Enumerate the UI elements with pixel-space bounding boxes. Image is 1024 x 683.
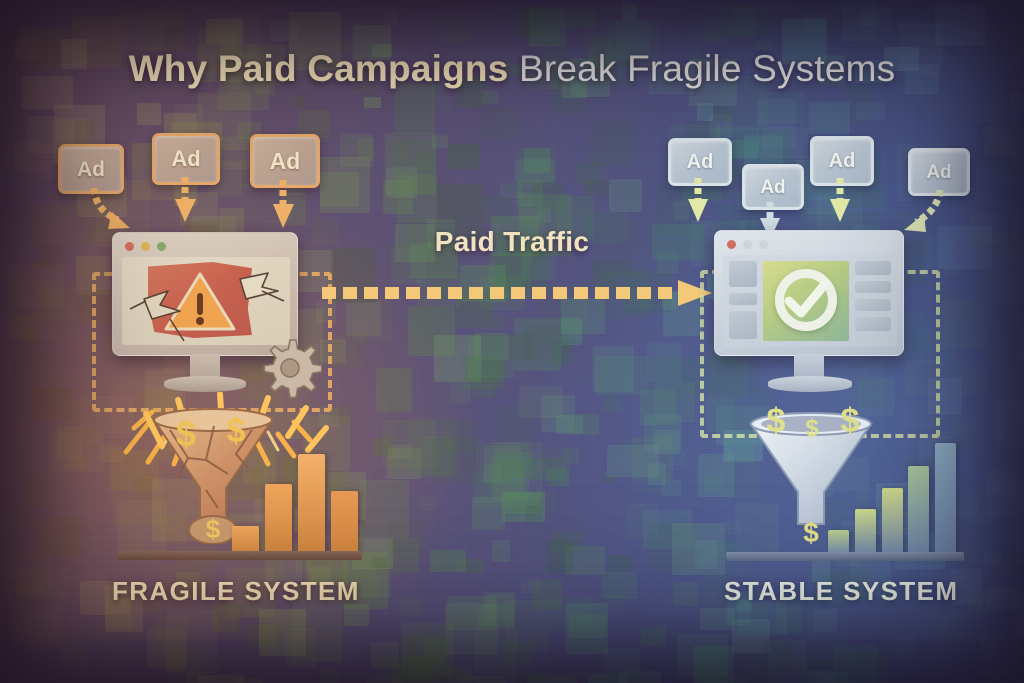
window-dot-red — [727, 240, 736, 249]
screen-block-right-3 — [855, 299, 891, 311]
bar-4 — [908, 466, 929, 556]
right-bar-chart — [828, 438, 956, 556]
ad-badge-label: Ad — [270, 150, 301, 173]
ad-badge-right-4[interactable]: Ad — [908, 148, 970, 196]
right-monitor — [714, 230, 904, 394]
screen-block-right-1 — [855, 261, 891, 275]
right-ground-shelf — [726, 552, 964, 561]
screen-block-left-3 — [729, 311, 757, 339]
dashed-right-arrow-icon — [320, 278, 716, 308]
left-monitor-screen — [122, 257, 290, 345]
gear-icon — [258, 336, 322, 400]
bar-3 — [882, 488, 903, 556]
left-ground-shelf — [118, 551, 362, 560]
screen-main-area — [763, 261, 849, 341]
svg-text:$: $ — [803, 517, 819, 548]
screen-block-left-1 — [729, 261, 757, 287]
svg-text:$: $ — [206, 514, 221, 544]
left-monitor-base — [164, 376, 246, 392]
bar-5 — [935, 443, 956, 556]
checkmark-icon — [781, 277, 833, 321]
page-title: Why Paid Campaigns Break Fragile Systems — [0, 48, 1024, 90]
ad-badge-left-1[interactable]: Ad — [58, 144, 124, 194]
window-dot-2 — [759, 240, 768, 249]
ad-badge-right-3[interactable]: Ad — [810, 136, 874, 186]
infographic-canvas: Why Paid Campaigns Break Fragile Systems… — [0, 0, 1024, 683]
left-system-label: FRAGILE SYSTEM — [112, 576, 360, 607]
window-dot-1 — [743, 240, 752, 249]
ad-badge-right-1[interactable]: Ad — [668, 138, 732, 186]
title-strong: Why Paid Campaigns — [129, 48, 509, 89]
svg-text:$: $ — [841, 402, 860, 440]
right-monitor-base — [768, 376, 852, 392]
dollar-inflow-icons: $ $ $ — [758, 398, 870, 442]
right-monitor-body — [714, 230, 904, 356]
ad-badge-left-3[interactable]: Ad — [250, 134, 320, 188]
ad-badge-right-2[interactable]: Ad — [742, 164, 804, 210]
title-light: Break Fragile Systems — [519, 48, 895, 89]
screen-block-right-4 — [855, 317, 891, 331]
bar-3 — [298, 454, 325, 556]
right-system-label: STABLE SYSTEM — [724, 576, 958, 607]
bar-2 — [265, 484, 292, 556]
ad-badge-label: Ad — [926, 163, 951, 182]
right-monitor-screen — [723, 255, 897, 347]
ad-badge-label: Ad — [829, 151, 856, 171]
bar-2 — [855, 509, 876, 556]
svg-text:$: $ — [176, 413, 196, 454]
svg-text:$: $ — [767, 402, 786, 440]
ad-badge-label: Ad — [687, 152, 714, 172]
bar-4 — [331, 491, 358, 556]
cracked-screen-icon — [122, 257, 290, 345]
screen-block-right-2 — [855, 281, 891, 293]
ad-badge-left-2[interactable]: Ad — [152, 133, 220, 185]
ad-badge-label: Ad — [760, 178, 785, 197]
ad-badge-label: Ad — [77, 159, 105, 180]
left-bar-chart — [232, 440, 358, 556]
svg-text:$: $ — [805, 415, 819, 442]
ad-badge-label: Ad — [171, 148, 200, 170]
screen-block-left-2 — [729, 293, 757, 305]
window-traffic-lights — [727, 240, 768, 249]
